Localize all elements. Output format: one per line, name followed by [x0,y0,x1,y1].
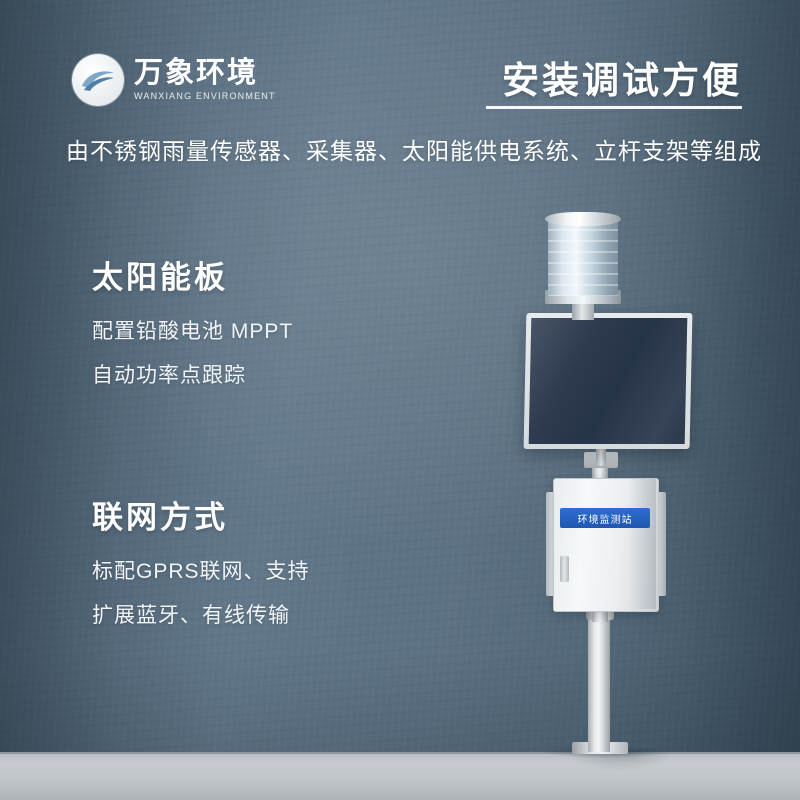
poster-root: 万象环境 WANXIANG ENVIRONMENT 安装调试方便 由不锈钢雨量传… [0,0,800,800]
mounting-pole-lower [588,612,610,752]
enclosure-label-text: 环境监测站 [578,511,633,526]
weather-station-device: 环境监测站 [0,0,800,800]
solar-panel-gloss [529,318,688,444]
enclosure-latch [560,556,569,582]
enclosure-label-plate: 环境监测站 [560,508,650,528]
rain-gauge-ribs [548,218,618,296]
enclosure-shading [628,479,656,609]
rain-gauge-funnel-rim [545,212,621,226]
